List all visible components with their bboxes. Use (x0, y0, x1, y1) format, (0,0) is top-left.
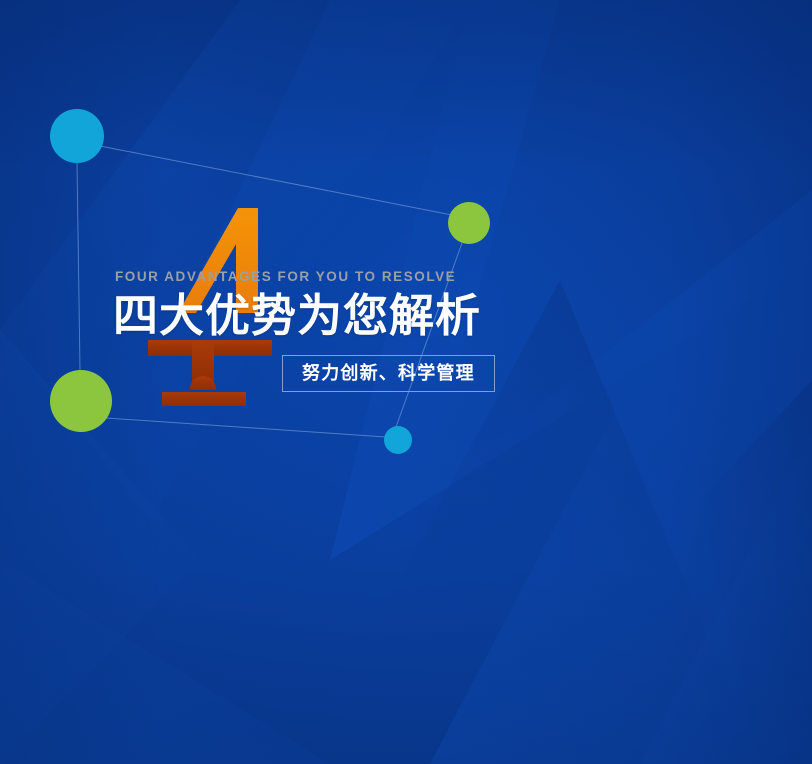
network-node-cyan-top-left (50, 109, 104, 163)
banner-tagline-badge: 努力创新、科学管理 (282, 355, 495, 392)
network-node-cyan-bottom (384, 426, 412, 454)
banner-text-block: FOUR ADVANTAGES FOR YOU TO RESOLVE 四大优势为… (113, 270, 733, 392)
banner-tagline-row: 努力创新、科学管理 (282, 355, 733, 392)
network-node-green-right (448, 202, 490, 244)
banner-canvas: FOUR ADVANTAGES FOR YOU TO RESOLVE 四大优势为… (0, 0, 812, 764)
banner-headline: 四大优势为您解析 (113, 293, 733, 339)
banner-eyebrow-text: FOUR ADVANTAGES FOR YOU TO RESOLVE (115, 270, 733, 284)
network-node-green-bottom-left (50, 370, 112, 432)
